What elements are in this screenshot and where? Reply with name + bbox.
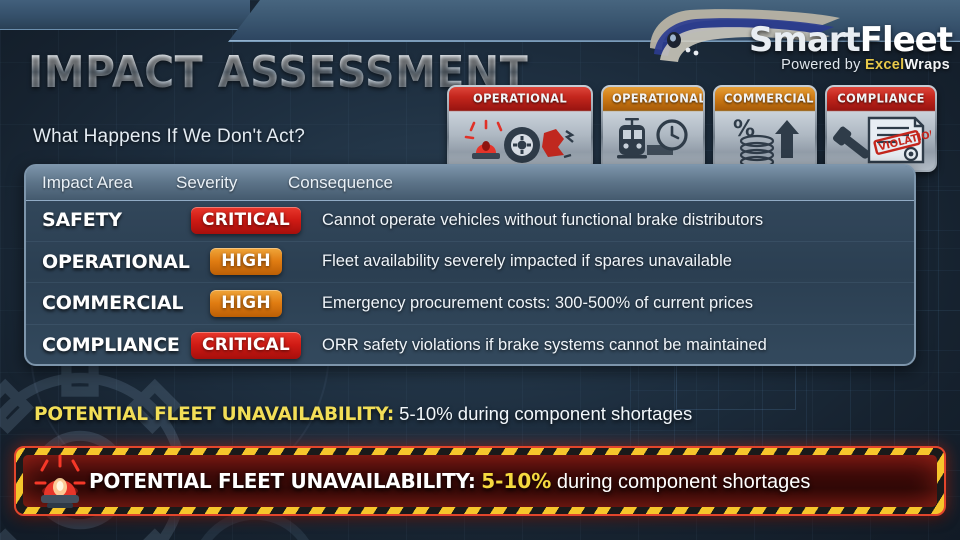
logo-excel: Excel <box>865 57 904 73</box>
logo-smart: Smart <box>749 20 860 60</box>
table-row[interactable]: OPERATIONAL HIGH Fleet availability seve… <box>26 242 914 284</box>
logo-tagline: Powered by ExcelWraps <box>781 57 950 73</box>
impact-card-operational[interactable]: OPERATIONAL <box>601 85 705 172</box>
column-header-impact-area: Impact Area <box>26 173 176 193</box>
alert-value: 5-10% <box>481 469 551 493</box>
percent-coins-arrow-up-icon: % <box>715 110 815 170</box>
top-chrome-left <box>0 0 250 30</box>
cell-consequence: ORR safety violations if brake systems c… <box>316 336 914 355</box>
cell-impact-area: COMMERCIAL <box>26 292 176 314</box>
impact-card-safety[interactable]: OPERATIONAL <box>447 85 593 172</box>
cell-impact-area: COMPLIANCE <box>26 334 176 356</box>
logo-wordmark: SmartFleet <box>749 20 952 60</box>
impact-card-commercial[interactable]: COMMERCIAL % <box>713 85 817 172</box>
alert-banner[interactable]: POTENTIAL FLEET UNAVAILABILITY: 5-10% du… <box>14 446 946 516</box>
cell-impact-area: OPERATIONAL <box>26 251 176 273</box>
cell-consequence: Fleet availability severely impacted if … <box>316 252 914 271</box>
impact-card-row: OPERATIONAL <box>447 85 937 172</box>
cell-consequence: Emergency procurement costs: 300-500% of… <box>316 294 914 313</box>
table-row[interactable]: SAFETY CRITICAL Cannot operate vehicles … <box>26 200 914 242</box>
alert-suffix: during component shortages <box>551 471 810 493</box>
column-header-severity: Severity <box>176 173 288 193</box>
logo-wraps: Wraps <box>904 57 950 73</box>
status-badge: HIGH <box>210 290 282 317</box>
table-row[interactable]: COMPLIANCE CRITICAL ORR safety violation… <box>26 325 914 367</box>
slide-canvas: SmartFleet Powered by ExcelWraps IMPACT … <box>0 0 960 540</box>
gavel-violation-document-icon: VIOLATION <box>827 110 935 170</box>
train-clock-icon <box>603 110 703 170</box>
impact-card-label: COMMERCIAL <box>715 87 815 111</box>
fleet-unavailability-callout: POTENTIAL FLEET UNAVAILABILITY: 5-10% du… <box>34 403 692 425</box>
callout-value: 5-10% during component shortages <box>394 403 692 424</box>
impact-card-label: COMPLIANCE <box>827 87 935 111</box>
logo-fleet: Fleet <box>860 20 952 60</box>
alert-text: POTENTIAL FLEET UNAVAILABILITY: 5-10% du… <box>89 469 810 494</box>
status-badge: CRITICAL <box>191 207 301 234</box>
logo-powered-by: Powered by <box>781 57 865 73</box>
siren-tire-damage-icon <box>449 110 591 170</box>
alert-label: POTENTIAL FLEET UNAVAILABILITY: <box>89 469 476 493</box>
emergency-siren-icon <box>31 449 89 523</box>
page-subtitle: What Happens If We Don't Act? <box>33 126 305 148</box>
impact-card-label: OPERATIONAL <box>449 87 591 111</box>
cell-consequence: Cannot operate vehicles without function… <box>316 211 914 230</box>
table-row[interactable]: COMMERCIAL HIGH Emergency procurement co… <box>26 283 914 325</box>
table-body: SAFETY CRITICAL Cannot operate vehicles … <box>26 200 914 364</box>
impact-table-panel: Impact Area Severity Consequence SAFETY … <box>24 164 916 366</box>
cell-impact-area: SAFETY <box>26 209 176 231</box>
status-badge: CRITICAL <box>191 332 301 359</box>
impact-card-label: OPERATIONAL <box>603 87 703 111</box>
status-badge: HIGH <box>210 248 282 275</box>
table-header-row: Impact Area Severity Consequence <box>26 166 914 200</box>
impact-card-compliance[interactable]: COMPLIANCE VIOLATION <box>825 85 937 172</box>
column-header-consequence: Consequence <box>288 173 914 193</box>
callout-label: POTENTIAL FLEET UNAVAILABILITY: <box>34 404 394 425</box>
